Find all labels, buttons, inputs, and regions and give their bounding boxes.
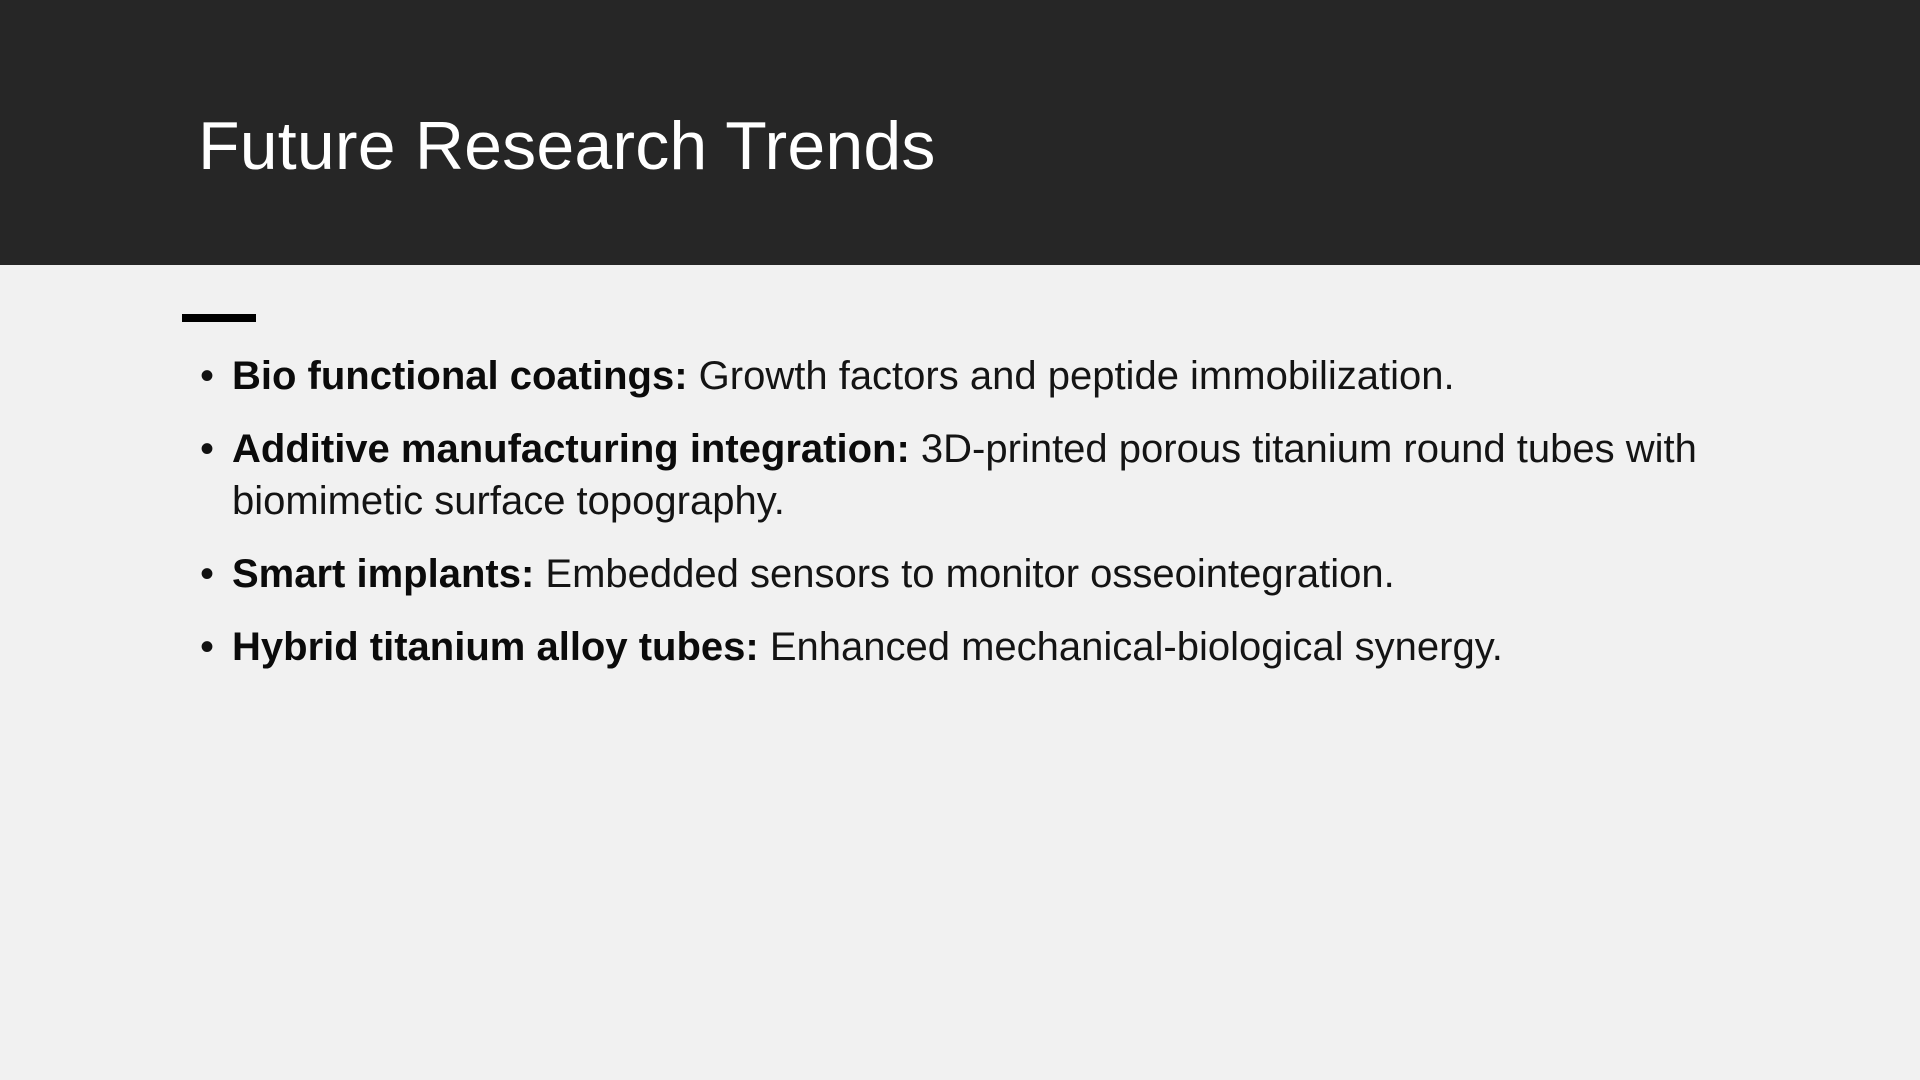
list-item-lead: Additive manufacturing integration: (232, 427, 910, 471)
list-item-lead: Hybrid titanium alloy tubes: (232, 625, 759, 669)
accent-rule (182, 314, 256, 322)
list-item-lead: Smart implants: (232, 552, 534, 596)
list-item: • Bio functional coatings: Growth factor… (182, 350, 1742, 402)
list-item: • Smart implants: Embedded sensors to mo… (182, 548, 1742, 600)
title-band: Future Research Trends (0, 0, 1920, 265)
bullet-dot-icon: • (200, 548, 222, 600)
slide: Future Research Trends • Bio functional … (0, 0, 1920, 1080)
list-item: • Hybrid titanium alloy tubes: Enhanced … (182, 621, 1742, 673)
list-item-text: Growth factors and peptide immobilizatio… (688, 354, 1455, 398)
content-body: • Bio functional coatings: Growth factor… (182, 350, 1742, 673)
list-item-text: Embedded sensors to monitor osseointegra… (534, 552, 1395, 596)
bullet-list: • Bio functional coatings: Growth factor… (182, 350, 1742, 673)
list-item-lead: Bio functional coatings: (232, 354, 688, 398)
list-item-text: Enhanced mechanical-biological synergy. (759, 625, 1503, 669)
list-item: • Additive manufacturing integration: 3D… (182, 423, 1742, 527)
bullet-dot-icon: • (200, 423, 222, 475)
page-title: Future Research Trends (198, 104, 936, 188)
bullet-dot-icon: • (200, 621, 222, 673)
bullet-dot-icon: • (200, 350, 222, 402)
